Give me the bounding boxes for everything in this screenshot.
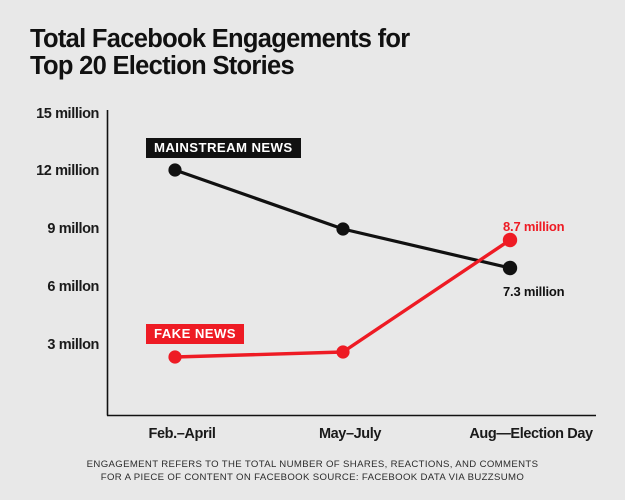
data-point-mainstream-1 [168,163,181,176]
series-line-mainstream-news [175,170,510,268]
x-axis-tick-label: Aug—Election Day [469,426,592,442]
data-label-mainstream-end: 7.3 million [503,284,564,299]
data-point-fake-1 [168,350,181,363]
plot-area [0,0,625,500]
data-point-fake-3 [503,233,517,247]
data-point-fake-2 [336,345,349,358]
data-point-mainstream-3 [503,261,517,275]
data-label-fake-end: 8.7 million [503,219,564,234]
x-axis-tick-label: May–July [319,426,381,442]
x-axis-tick-label: Feb.–April [149,426,216,442]
data-point-mainstream-2 [336,222,349,235]
footnote-line-2: FOR A PIECE OF CONTENT ON FACEBOOK SOURC… [0,472,625,485]
footnote-line-1: ENGAGEMENT REFERS TO THE TOTAL NUMBER OF… [0,459,625,472]
chart-footnote: ENGAGEMENT REFERS TO THE TOTAL NUMBER OF… [0,459,625,484]
legend-badge-mainstream-news: MAINSTREAM NEWS [146,138,301,158]
chart-container: Total Facebook Engagements for Top 20 El… [0,0,625,500]
legend-badge-fake-news: FAKE NEWS [146,324,244,344]
